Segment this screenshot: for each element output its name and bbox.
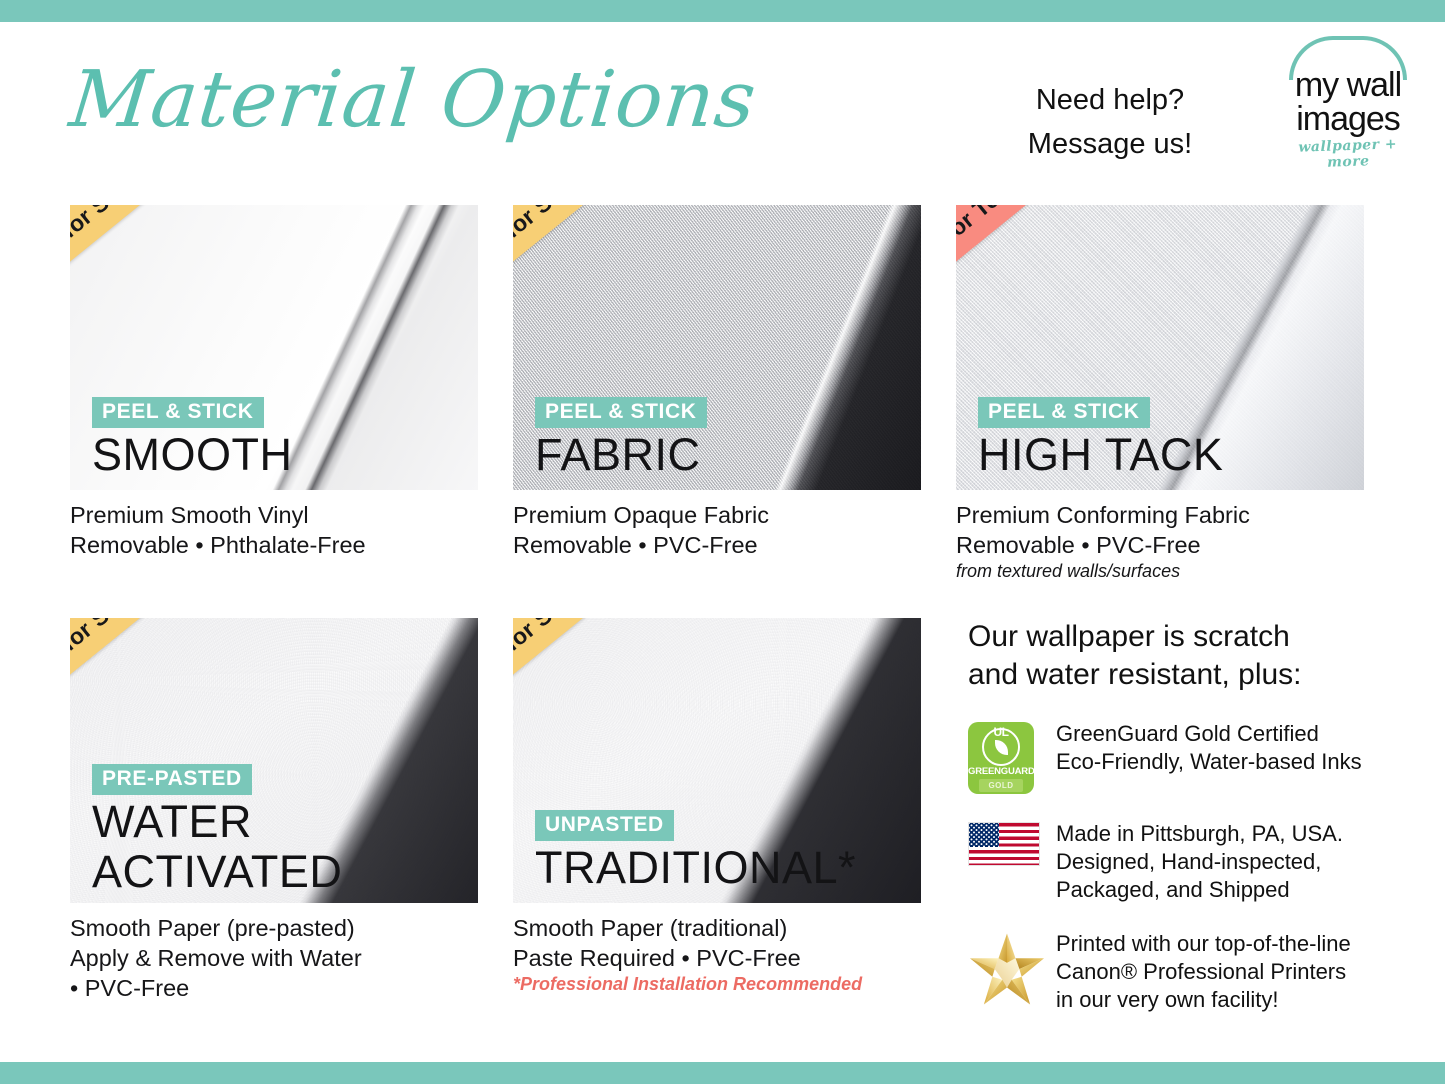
material-card-water-activated[interactable]: for Smooth Walls PRE-PASTED WATER ACTIVA… <box>70 618 478 1003</box>
caption-line-1: Smooth Paper (pre-pasted) <box>70 913 478 943</box>
brand-logo: my wall images wallpaper + more <box>1273 34 1423 164</box>
caption-line-3: • PVC-Free <box>70 973 478 1003</box>
status-badge: PEEL & STICK <box>535 397 707 428</box>
flag-stars <box>969 823 999 847</box>
card-photo: for Smooth Walls PRE-PASTED WATER ACTIVA… <box>70 618 478 903</box>
card-caption: Premium Conforming Fabric Removable • PV… <box>956 500 1364 583</box>
status-badge: PEEL & STICK <box>978 397 1150 428</box>
features-title-line-1: Our wallpaper is scratch <box>968 618 1388 656</box>
card-overlay: PEEL & STICK HIGH TACK <box>978 397 1223 480</box>
caption-line-2: Removable • Phthalate-Free <box>70 530 478 560</box>
caption-line-2: Paste Required • PVC-Free <box>513 943 921 973</box>
caption-line-2: Removable • PVC-Free <box>956 530 1364 560</box>
status-badge: PRE-PASTED <box>92 764 252 795</box>
bottom-accent-bar <box>0 1062 1445 1084</box>
caption-line-2: Removable • PVC-Free <box>513 530 921 560</box>
flag-canton <box>969 823 999 847</box>
ul-label: UL <box>982 725 1020 739</box>
card-heading: SMOOTH <box>92 430 293 480</box>
card-caption: Premium Opaque Fabric Removable • PVC-Fr… <box>513 500 921 560</box>
feature-text: Made in Pittsburgh, PA, USA. Designed, H… <box>1056 820 1343 904</box>
top-accent-bar <box>0 0 1445 22</box>
card-caption: Smooth Paper (pre-pasted) Apply & Remove… <box>70 913 478 1003</box>
feature-icon <box>968 930 1056 1006</box>
feature-row-canon-printers: Printed with our top-of-the-line Canon® … <box>968 930 1388 1014</box>
gold-star-icon <box>968 932 1046 1006</box>
card-photo: for Smooth Walls PEEL & STICK SMOOTH <box>70 205 478 490</box>
feature-row-made-in-usa: Made in Pittsburgh, PA, USA. Designed, H… <box>968 820 1388 904</box>
card-photo: for Textured Walls PEEL & STICK HIGH TAC… <box>956 205 1364 490</box>
feature-line-3: Packaged, and Shipped <box>1056 876 1343 904</box>
feature-text: Printed with our top-of-the-line Canon® … <box>1056 930 1351 1014</box>
caption-line-1: Premium Smooth Vinyl <box>70 500 478 530</box>
status-badge: UNPASTED <box>535 810 674 841</box>
features-title: Our wallpaper is scratch and water resis… <box>968 618 1388 694</box>
feature-line-3: in our very own facility! <box>1056 986 1351 1014</box>
card-overlay: PRE-PASTED WATER ACTIVATED <box>92 764 392 897</box>
feature-line-2: Designed, Hand-inspected, <box>1056 848 1343 876</box>
page-title: Material Options <box>64 48 716 158</box>
feature-line-2: Canon® Professional Printers <box>1056 958 1351 986</box>
card-heading: HIGH TACK <box>978 430 1223 480</box>
caption-line-1: Premium Conforming Fabric <box>956 500 1364 530</box>
need-help-block: Need help? Message us! <box>950 78 1270 166</box>
material-card-high-tack[interactable]: for Textured Walls PEEL & STICK HIGH TAC… <box>956 205 1364 583</box>
feature-icon <box>968 820 1056 866</box>
card-overlay: PEEL & STICK SMOOTH <box>92 397 293 480</box>
card-caption: Smooth Paper (traditional) Paste Require… <box>513 913 921 996</box>
card-heading: WATER ACTIVATED <box>92 797 392 897</box>
feature-line-1: Made in Pittsburgh, PA, USA. <box>1056 820 1343 848</box>
card-heading: FABRIC <box>535 430 707 480</box>
feature-line-1: Printed with our top-of-the-line <box>1056 930 1351 958</box>
card-photo: for Smooth Walls PEEL & STICK FABRIC <box>513 205 921 490</box>
card-overlay: UNPASTED TRADITIONAL* <box>535 810 856 893</box>
material-card-traditional[interactable]: for Smooth Walls UNPASTED TRADITIONAL* S… <box>513 618 921 996</box>
infographic-page: Material Options Need help? Message us! … <box>0 0 1445 1084</box>
greenguard-label: GREENGUARD <box>968 766 1034 777</box>
logo-line-1: my wall <box>1273 66 1423 104</box>
greenguard-gold-icon: UL GREENGUARD GOLD <box>968 722 1034 794</box>
card-photo: for Smooth Walls UNPASTED TRADITIONAL* <box>513 618 921 903</box>
material-card-fabric[interactable]: for Smooth Walls PEEL & STICK FABRIC Pre… <box>513 205 921 560</box>
card-note: *Professional Installation Recommended <box>513 973 921 996</box>
logo-line-2: images <box>1273 100 1423 138</box>
material-card-smooth[interactable]: for Smooth Walls PEEL & STICK SMOOTH Pre… <box>70 205 478 560</box>
status-badge: PEEL & STICK <box>92 397 264 428</box>
card-heading: TRADITIONAL* <box>535 843 856 893</box>
feature-row-greenguard: UL GREENGUARD GOLD GreenGuard Gold Certi… <box>968 720 1388 794</box>
features-panel: Our wallpaper is scratch and water resis… <box>968 618 1388 1040</box>
feature-line-1: GreenGuard Gold Certified <box>1056 720 1362 748</box>
card-overlay: PEEL & STICK FABRIC <box>535 397 707 480</box>
feature-icon: UL GREENGUARD GOLD <box>968 720 1056 794</box>
feature-text: GreenGuard Gold Certified Eco-Friendly, … <box>1056 720 1362 776</box>
need-help-line1: Need help? <box>950 78 1270 122</box>
gold-label: GOLD <box>979 779 1023 792</box>
logo-tagline: wallpaper + more <box>1277 136 1418 173</box>
feature-line-2: Eco-Friendly, Water-based Inks <box>1056 748 1362 776</box>
features-title-line-2: and water resistant, plus: <box>968 656 1388 694</box>
caption-line-1: Premium Opaque Fabric <box>513 500 921 530</box>
card-note: from textured walls/surfaces <box>956 560 1364 583</box>
caption-line-1: Smooth Paper (traditional) <box>513 913 921 943</box>
us-flag-icon <box>968 822 1040 866</box>
need-help-line2: Message us! <box>950 122 1270 166</box>
caption-line-2: Apply & Remove with Water <box>70 943 478 973</box>
card-caption: Premium Smooth Vinyl Removable • Phthala… <box>70 500 478 560</box>
